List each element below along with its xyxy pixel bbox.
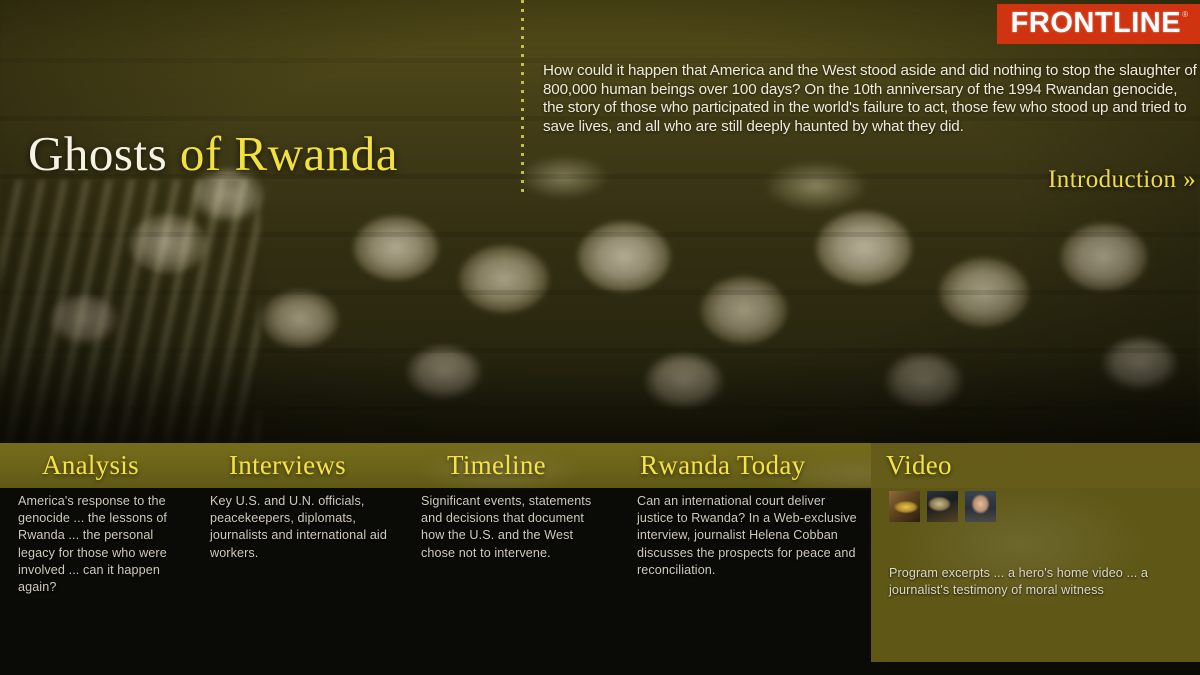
- intro-paragraph: How could it happen that America and the…: [543, 62, 1198, 136]
- page-root: FRONTLINE ® Ghosts of Rwanda How could i…: [0, 0, 1200, 675]
- nav-column-timeline[interactable]: Timeline Significant events, statements …: [409, 443, 618, 675]
- intro-block: How could it happen that America and the…: [543, 62, 1198, 136]
- nav-heading-interviews[interactable]: Interviews: [229, 443, 346, 488]
- nav-heading-video[interactable]: Video: [886, 443, 952, 488]
- video-thumbnail-interviewee[interactable]: [965, 491, 996, 522]
- nav-description-rwanda-today: Can an international court deliver justi…: [637, 493, 861, 579]
- nav-heading-analysis[interactable]: Analysis: [42, 443, 139, 488]
- video-thumbnail-machete[interactable]: [889, 491, 920, 522]
- registered-mark-icon: ®: [1182, 11, 1188, 19]
- nav-column-analysis[interactable]: Analysis America's response to the genoc…: [0, 443, 193, 675]
- video-thumbnail-soldier[interactable]: [927, 491, 958, 522]
- nav-column-interviews[interactable]: Interviews Key U.S. and U.N. officials, …: [196, 443, 406, 675]
- frontline-logo[interactable]: FRONTLINE ®: [997, 4, 1200, 44]
- section-nav-strip: Analysis America's response to the genoc…: [0, 443, 1200, 675]
- nav-description-interviews: Key U.S. and U.N. officials, peacekeeper…: [210, 493, 402, 562]
- page-title: Ghosts of Rwanda: [28, 128, 398, 179]
- page-title-part-1: Ghosts: [28, 126, 167, 181]
- nav-heading-timeline[interactable]: Timeline: [447, 443, 546, 488]
- frontline-logo-text: FRONTLINE: [1011, 9, 1181, 38]
- video-thumbnail-row: [889, 491, 996, 522]
- nav-column-video[interactable]: Video Program excerpts ... a hero's home…: [871, 443, 1200, 675]
- header-dotted-divider: [521, 0, 524, 192]
- nav-heading-rwanda-today[interactable]: Rwanda Today: [640, 443, 805, 488]
- page-title-part-2: of Rwanda: [180, 126, 398, 181]
- nav-description-video: Program excerpts ... a hero's home video…: [889, 565, 1149, 599]
- introduction-link[interactable]: Introduction »: [1048, 166, 1196, 194]
- nav-description-timeline: Significant events, statements and decis…: [421, 493, 607, 562]
- nav-description-analysis: America's response to the genocide ... t…: [18, 493, 186, 596]
- nav-column-rwanda-today[interactable]: Rwanda Today Can an international court …: [621, 443, 868, 675]
- video-column-footer-strip: [871, 662, 1200, 675]
